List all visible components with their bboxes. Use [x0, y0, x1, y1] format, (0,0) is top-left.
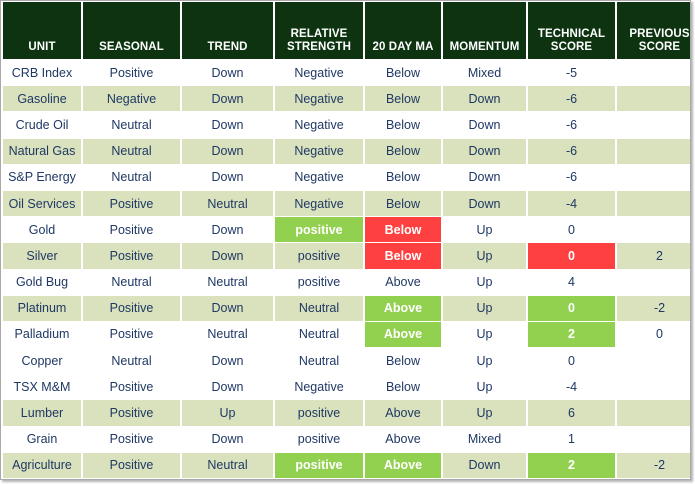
table-row[interactable]: AgriculturePositiveNeutralpositiveAboveD… — [3, 453, 691, 478]
cell-rs[interactable]: Negative — [275, 165, 363, 190]
column-header-unit-line-0: UNIT — [4, 41, 80, 54]
cell-momentum[interactable]: Up — [443, 322, 526, 347]
cell-tech[interactable]: 4 — [528, 270, 615, 295]
cell-seasonal[interactable]: Neutral — [83, 348, 180, 373]
column-header-ma[interactable]: 20 DAY MA — [365, 2, 441, 59]
table-row[interactable]: Crude OilNeutralDownNegativeBelowDown-6 — [3, 112, 691, 137]
cell-prev[interactable] — [617, 374, 691, 399]
cell-trend[interactable]: Up — [182, 400, 273, 425]
cell-unit[interactable]: S&P Energy — [3, 165, 81, 190]
cell-trend[interactable]: Down — [182, 165, 273, 190]
cell-ma[interactable]: Below — [365, 243, 441, 268]
column-header-tech[interactable]: TECHNICALSCORE — [528, 2, 615, 59]
table-row[interactable]: LumberPositiveUppositiveAboveUp6 — [3, 400, 691, 425]
cell-trend[interactable]: Down — [182, 139, 273, 164]
cell-seasonal[interactable]: Positive — [83, 427, 180, 452]
cell-seasonal[interactable]: Positive — [83, 400, 180, 425]
cell-momentum[interactable]: Up — [443, 270, 526, 295]
technical-score-table-frame: UNITSEASONALTRENDRELATIVESTRENGTH20 DAY … — [0, 0, 691, 480]
cell-prev[interactable] — [617, 165, 691, 190]
cell-momentum[interactable]: Down — [443, 112, 526, 137]
column-header-trend-line-0: TREND — [183, 41, 272, 54]
cell-rs[interactable]: Negative — [275, 60, 363, 85]
cell-prev[interactable]: -2 — [617, 296, 691, 321]
column-header-momentum-line-0: MOMENTUM — [444, 41, 525, 54]
cell-tech[interactable]: -6 — [528, 139, 615, 164]
cell-momentum[interactable]: Down — [443, 191, 526, 216]
cell-rs[interactable]: Neutral — [275, 296, 363, 321]
cell-ma[interactable]: Below — [365, 60, 441, 85]
cell-tech[interactable]: 2 — [528, 453, 615, 478]
cell-prev[interactable] — [617, 270, 691, 295]
cell-ma[interactable]: Below — [365, 165, 441, 190]
cell-prev[interactable] — [617, 112, 691, 137]
cell-seasonal[interactable]: Neutral — [83, 139, 180, 164]
cell-rs[interactable]: Negative — [275, 191, 363, 216]
cell-rs[interactable]: Neutral — [275, 348, 363, 373]
cell-prev[interactable] — [617, 400, 691, 425]
cell-seasonal[interactable]: Neutral — [83, 270, 180, 295]
cell-momentum[interactable]: Down — [443, 139, 526, 164]
column-header-prev-line-1: SCORE — [618, 41, 691, 54]
cell-tech[interactable]: -4 — [528, 374, 615, 399]
cell-rs[interactable]: positive — [275, 400, 363, 425]
cell-momentum[interactable]: Up — [443, 374, 526, 399]
cell-rs[interactable]: Negative — [275, 139, 363, 164]
cell-trend[interactable]: Down — [182, 112, 273, 137]
cell-tech[interactable]: 0 — [528, 296, 615, 321]
cell-unit[interactable]: Gold — [3, 217, 81, 242]
cell-tech[interactable]: -6 — [528, 86, 615, 111]
cell-tech[interactable]: 6 — [528, 400, 615, 425]
cell-momentum[interactable]: Up — [443, 296, 526, 321]
cell-tech[interactable]: -6 — [528, 165, 615, 190]
cell-rs[interactable]: positive — [275, 217, 363, 242]
cell-ma[interactable]: Below — [365, 374, 441, 399]
cell-momentum[interactable]: Down — [443, 165, 526, 190]
cell-rs[interactable]: Neutral — [275, 322, 363, 347]
cell-trend[interactable]: Down — [182, 427, 273, 452]
cell-rs[interactable]: positive — [275, 453, 363, 478]
cell-ma[interactable]: Below — [365, 348, 441, 373]
cell-rs[interactable]: positive — [275, 427, 363, 452]
cell-unit[interactable]: Oil Services — [3, 191, 81, 216]
cell-momentum[interactable]: Down — [443, 453, 526, 478]
cell-rs[interactable]: Negative — [275, 86, 363, 111]
cell-ma[interactable]: Above — [365, 322, 441, 347]
cell-momentum[interactable]: Up — [443, 243, 526, 268]
cell-ma[interactable]: Below — [365, 139, 441, 164]
table-header: UNITSEASONALTRENDRELATIVESTRENGTH20 DAY … — [3, 2, 691, 59]
cell-trend[interactable]: Neutral — [182, 453, 273, 478]
header-row: UNITSEASONALTRENDRELATIVESTRENGTH20 DAY … — [3, 2, 691, 59]
column-header-unit[interactable]: UNIT — [3, 2, 81, 59]
cell-seasonal[interactable]: Neutral — [83, 112, 180, 137]
cell-prev[interactable]: 2 — [617, 243, 691, 268]
cell-seasonal[interactable]: Positive — [83, 296, 180, 321]
column-header-trend[interactable]: TREND — [182, 2, 273, 59]
cell-trend[interactable]: Down — [182, 86, 273, 111]
cell-trend[interactable]: Neutral — [182, 270, 273, 295]
cell-tech[interactable]: -4 — [528, 191, 615, 216]
table-row[interactable]: GrainPositiveDownpositiveAboveMixed1 — [3, 427, 691, 452]
cell-momentum[interactable]: Mixed — [443, 427, 526, 452]
column-header-rs[interactable]: RELATIVESTRENGTH — [275, 2, 363, 59]
cell-ma[interactable]: Above — [365, 427, 441, 452]
cell-ma[interactable]: Below — [365, 112, 441, 137]
cell-rs[interactable]: Negative — [275, 112, 363, 137]
cell-ma[interactable]: Above — [365, 270, 441, 295]
cell-unit[interactable]: Gold Bug — [3, 270, 81, 295]
cell-seasonal[interactable]: Positive — [83, 217, 180, 242]
column-header-seasonal-line-0: SEASONAL — [84, 41, 179, 54]
table-row[interactable]: CopperNeutralDownNeutralBelowUp0 — [3, 348, 691, 373]
cell-ma[interactable]: Below — [365, 217, 441, 242]
cell-unit[interactable]: CRB Index — [3, 60, 81, 85]
cell-momentum[interactable]: Up — [443, 217, 526, 242]
cell-prev[interactable]: 0 — [617, 322, 691, 347]
column-header-momentum[interactable]: MOMENTUM — [443, 2, 526, 59]
cell-seasonal[interactable]: Positive — [83, 374, 180, 399]
table-row[interactable]: GasolineNegativeDownNegativeBelowDown-6 — [3, 86, 691, 111]
table-row[interactable]: PlatinumPositiveDownNeutralAboveUp0-2 — [3, 296, 691, 321]
cell-seasonal[interactable]: Positive — [83, 453, 180, 478]
table-row[interactable]: SilverPositiveDownpositiveBelowUp02 — [3, 243, 691, 268]
technical-score-table: UNITSEASONALTRENDRELATIVESTRENGTH20 DAY … — [1, 1, 691, 479]
cell-unit[interactable]: Lumber — [3, 400, 81, 425]
cell-momentum[interactable]: Down — [443, 86, 526, 111]
cell-trend[interactable]: Down — [182, 296, 273, 321]
cell-unit[interactable]: Silver — [3, 243, 81, 268]
column-header-ma-line-0: 20 DAY MA — [366, 41, 440, 54]
cell-prev[interactable] — [617, 60, 691, 85]
table-row[interactable]: TSX M&MPositiveDownNegativeBelowUp-4 — [3, 374, 691, 399]
table-row[interactable]: S&P EnergyNeutralDownNegativeBelowDown-6 — [3, 165, 691, 190]
cell-unit[interactable]: Platinum — [3, 296, 81, 321]
column-header-prev[interactable]: PREVIOUSSCORE — [617, 2, 691, 59]
cell-tech[interactable]: 0 — [528, 243, 615, 268]
cell-tech[interactable]: 2 — [528, 322, 615, 347]
column-header-tech-line-0: TECHNICAL — [529, 28, 614, 41]
cell-prev[interactable] — [617, 217, 691, 242]
cell-prev[interactable] — [617, 427, 691, 452]
cell-unit[interactable]: Grain — [3, 427, 81, 452]
cell-seasonal[interactable]: Positive — [83, 243, 180, 268]
cell-prev[interactable]: -2 — [617, 453, 691, 478]
cell-unit[interactable]: Crude Oil — [3, 112, 81, 137]
cell-rs[interactable]: Negative — [275, 374, 363, 399]
column-header-rs-line-1: STRENGTH — [276, 41, 362, 54]
cell-ma[interactable]: Below — [365, 86, 441, 111]
cell-trend[interactable]: Down — [182, 243, 273, 268]
table-row[interactable]: GoldPositiveDownpositiveBelowUp0 — [3, 217, 691, 242]
cell-prev[interactable] — [617, 191, 691, 216]
cell-unit[interactable]: TSX M&M — [3, 374, 81, 399]
cell-ma[interactable]: Below — [365, 191, 441, 216]
cell-rs[interactable]: positive — [275, 243, 363, 268]
cell-tech[interactable]: -5 — [528, 60, 615, 85]
cell-unit[interactable]: Natural Gas — [3, 139, 81, 164]
column-header-seasonal[interactable]: SEASONAL — [83, 2, 180, 59]
cell-tech[interactable]: 1 — [528, 427, 615, 452]
cell-seasonal[interactable]: Negative — [83, 86, 180, 111]
cell-trend[interactable]: Neutral — [182, 191, 273, 216]
cell-prev[interactable] — [617, 139, 691, 164]
cell-unit[interactable]: Copper — [3, 348, 81, 373]
column-header-prev-line-0: PREVIOUS — [618, 28, 691, 41]
table-row[interactable]: Oil ServicesPositiveNeutralNegativeBelow… — [3, 191, 691, 216]
cell-seasonal[interactable]: Positive — [83, 60, 180, 85]
cell-tech[interactable]: 0 — [528, 348, 615, 373]
table-row[interactable]: Gold BugNeutralNeutralpositiveAboveUp4 — [3, 270, 691, 295]
table-row[interactable]: PalladiumPositiveNeutralNeutralAboveUp20 — [3, 322, 691, 347]
cell-ma[interactable]: Above — [365, 296, 441, 321]
table-row[interactable]: CRB IndexPositiveDownNegativeBelowMixed-… — [3, 60, 691, 85]
cell-tech[interactable]: 0 — [528, 217, 615, 242]
cell-prev[interactable] — [617, 86, 691, 111]
column-header-tech-line-1: SCORE — [529, 41, 614, 54]
cell-unit[interactable]: Gasoline — [3, 86, 81, 111]
cell-seasonal[interactable]: Positive — [83, 191, 180, 216]
cell-unit[interactable]: Agriculture — [3, 453, 81, 478]
column-header-rs-line-0: RELATIVE — [276, 28, 362, 41]
cell-ma[interactable]: Above — [365, 400, 441, 425]
cell-momentum[interactable]: Up — [443, 400, 526, 425]
cell-trend[interactable]: Down — [182, 374, 273, 399]
cell-trend[interactable]: Down — [182, 217, 273, 242]
cell-rs[interactable]: positive — [275, 270, 363, 295]
table-body: CRB IndexPositiveDownNegativeBelowMixed-… — [3, 60, 691, 478]
cell-trend[interactable]: Down — [182, 60, 273, 85]
cell-seasonal[interactable]: Positive — [83, 322, 180, 347]
cell-tech[interactable]: -6 — [528, 112, 615, 137]
cell-momentum[interactable]: Mixed — [443, 60, 526, 85]
cell-ma[interactable]: Above — [365, 453, 441, 478]
cell-prev[interactable] — [617, 348, 691, 373]
cell-trend[interactable]: Down — [182, 348, 273, 373]
table-row[interactable]: Natural GasNeutralDownNegativeBelowDown-… — [3, 139, 691, 164]
cell-seasonal[interactable]: Neutral — [83, 165, 180, 190]
cell-unit[interactable]: Palladium — [3, 322, 81, 347]
cell-trend[interactable]: Neutral — [182, 322, 273, 347]
cell-momentum[interactable]: Up — [443, 348, 526, 373]
